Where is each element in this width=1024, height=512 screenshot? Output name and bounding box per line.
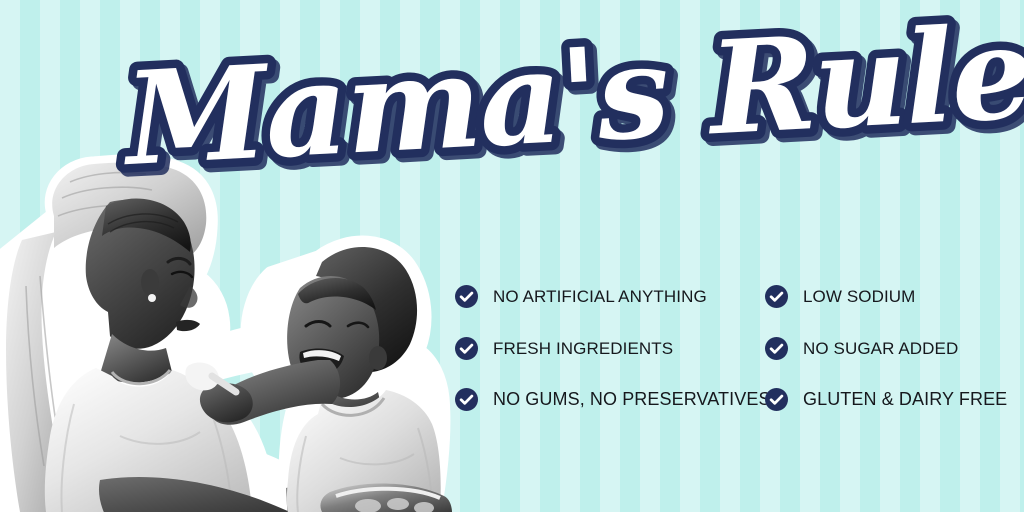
list-item-label: NO SUGAR ADDED: [803, 340, 958, 357]
check-circle-icon: [455, 285, 478, 308]
feature-list: NO ARTIFICIAL ANYTHING FRESH INGREDIENTS…: [455, 272, 1015, 432]
check-circle-icon: [455, 337, 478, 360]
list-item-label: GLUTEN & DAIRY FREE: [803, 390, 1007, 408]
list-item[interactable]: NO GUMS, NO PRESERVATIVES: [455, 385, 771, 413]
list-item[interactable]: FRESH INGREDIENTS: [455, 334, 673, 362]
photo-cutout-icon: [0, 136, 452, 512]
list-item-label: NO ARTIFICIAL ANYTHING: [493, 288, 707, 305]
family-photo: [0, 136, 452, 512]
list-item[interactable]: LOW SODIUM: [765, 282, 915, 310]
check-circle-icon: [765, 388, 788, 411]
list-item-label: NO GUMS, NO PRESERVATIVES: [493, 390, 771, 408]
promo-banner: Mama's Rules Mama's Rules Mama's Rules N…: [0, 0, 1024, 512]
check-circle-icon: [765, 337, 788, 360]
list-item-label: LOW SODIUM: [803, 288, 915, 305]
list-item-label: FRESH INGREDIENTS: [493, 340, 673, 357]
list-item[interactable]: NO SUGAR ADDED: [765, 334, 958, 362]
list-item[interactable]: NO ARTIFICIAL ANYTHING: [455, 282, 707, 310]
check-circle-icon: [765, 285, 788, 308]
list-item[interactable]: GLUTEN & DAIRY FREE: [765, 385, 1007, 413]
check-circle-icon: [455, 388, 478, 411]
